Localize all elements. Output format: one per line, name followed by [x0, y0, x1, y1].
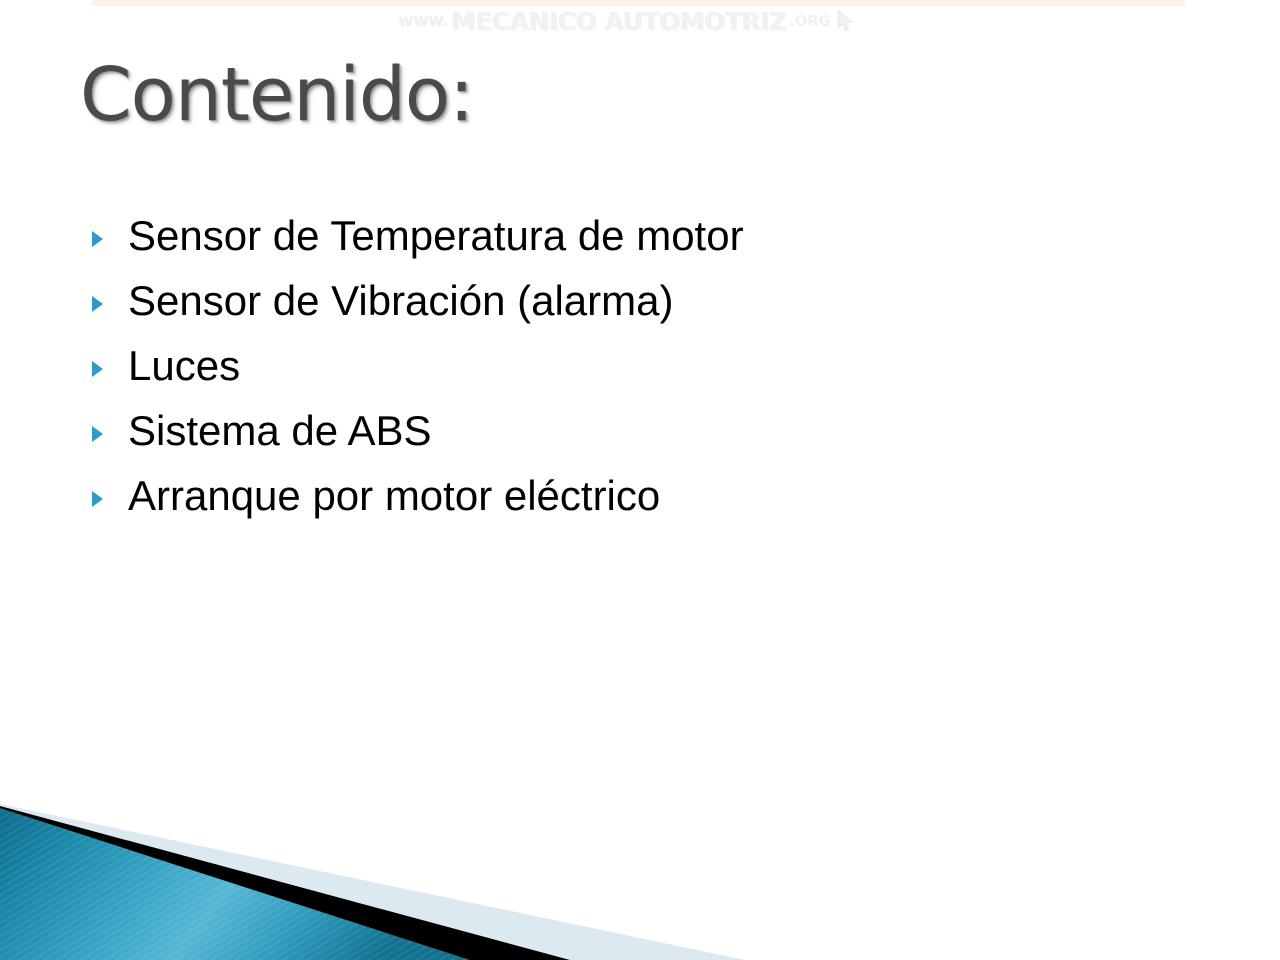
- triangle-right-icon: [90, 407, 128, 458]
- list-item-label: Luces: [128, 342, 240, 390]
- list-item: Sensor de Vibración (alarma): [90, 277, 1190, 342]
- triangle-right-icon: [90, 212, 128, 263]
- slide-title: Contenido:: [80, 58, 473, 132]
- deco-pale-band: [0, 804, 745, 960]
- content-bullet-list: Sensor de Temperatura de motor Sensor de…: [90, 212, 1190, 537]
- list-item: Sensor de Temperatura de motor: [90, 212, 1190, 277]
- watermark-main: MECANICO AUTOMOTRIZ: [451, 7, 787, 36]
- deco-black-band: [0, 806, 570, 960]
- triangle-right-icon: [90, 277, 128, 328]
- watermark: www. MECANICO AUTOMOTRIZ .ORG: [398, 6, 857, 36]
- corner-decoration: [0, 790, 800, 960]
- list-item: Sistema de ABS: [90, 407, 1190, 472]
- list-item-label: Sistema de ABS: [128, 407, 432, 455]
- top-accent-band: [92, 0, 1185, 6]
- list-item-label: Arranque por motor eléctrico: [128, 472, 660, 520]
- list-item-label: Sensor de Vibración (alarma): [128, 277, 674, 325]
- mouse-cursor-icon: [835, 9, 857, 33]
- list-item: Arranque por motor eléctrico: [90, 472, 1190, 537]
- watermark-suffix: .ORG: [789, 12, 830, 30]
- triangle-right-icon: [90, 472, 128, 523]
- watermark-prefix: www.: [398, 11, 449, 31]
- triangle-right-icon: [90, 342, 128, 393]
- slide-canvas: www. MECANICO AUTOMOTRIZ .ORG Contenido:…: [0, 0, 1280, 960]
- list-item: Luces: [90, 342, 1190, 407]
- list-item-label: Sensor de Temperatura de motor: [128, 212, 744, 260]
- deco-teal-band: [0, 808, 470, 960]
